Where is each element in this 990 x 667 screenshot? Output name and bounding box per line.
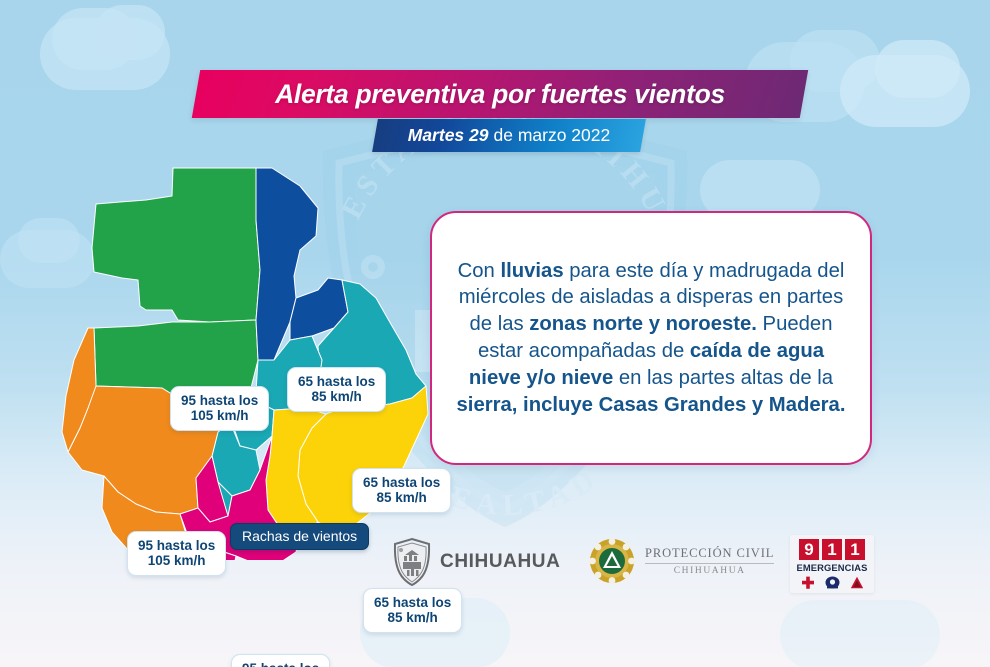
wind-label-line2: 105 km/h	[181, 408, 258, 423]
pc-line1: PROTECCIÓN CIVIL	[645, 546, 774, 561]
forecast-segment-6: en las partes altas de la	[613, 367, 833, 389]
digit-9: 9	[799, 539, 819, 560]
forecast-segment-0: Con	[458, 260, 501, 282]
chihuahua-shield-icon	[392, 537, 432, 587]
digit-1-a: 1	[822, 539, 842, 560]
cloud-icon	[780, 600, 940, 667]
forecast-info-text: Con lluvias para este día y madrugada de…	[432, 258, 870, 419]
date-weekday-day: Martes 29	[408, 125, 489, 146]
wind-label-line2: 85 km/h	[363, 490, 440, 505]
wind-label-sur[interactable]: 95 hasta los 105 km/h	[231, 654, 330, 667]
footer-logo-bar: CHIHUAHUA PROTECCIÓN CIVIL	[0, 534, 990, 602]
forecast-segment-1: lluvias	[500, 260, 563, 282]
red-cross-icon	[801, 576, 815, 590]
chihuahua-government-logo[interactable]: CHIHUAHUA	[392, 537, 560, 587]
wind-label-line1: 65 hasta los	[363, 475, 440, 490]
police-badge-icon	[825, 576, 840, 589]
wind-label-line1: 95 hasta los	[181, 393, 258, 408]
wind-label-line1: 65 hasta los	[298, 374, 375, 389]
date-label: Martes 29 de marzo 2022	[375, 119, 643, 152]
cloud-icon	[95, 5, 165, 60]
map-zone-noroeste[interactable]	[92, 168, 260, 398]
digit-1-b: 1	[845, 539, 865, 560]
emergencias-service-icons	[801, 576, 864, 590]
wind-label-line2: 85 km/h	[374, 610, 451, 625]
forecast-segment-7: sierra, incluye Casas Grandes y Madera.	[457, 394, 846, 416]
proteccion-civil-emblem-icon	[588, 537, 636, 585]
wind-label-norte[interactable]: 65 hasta los 85 km/h	[287, 367, 386, 412]
proteccion-civil-logo[interactable]: PROTECCIÓN CIVIL CHIHUAHUA	[588, 537, 774, 585]
chihuahua-wordmark: CHIHUAHUA	[440, 551, 560, 573]
page-title: Alerta preventiva por fuertes vientos	[196, 70, 804, 118]
proteccion-civil-wordmark: PROTECCIÓN CIVIL CHIHUAHUA	[645, 546, 774, 576]
wind-label-noroeste[interactable]: 95 hasta los 105 km/h	[170, 386, 269, 431]
pc-divider	[645, 563, 774, 564]
pc-line2: CHIHUAHUA	[674, 566, 746, 576]
wind-label-line1: 95 hasta los	[242, 661, 319, 667]
date-month-year: de marzo 2022	[494, 125, 611, 146]
forecast-info-box: Con lluvias para este día y madrugada de…	[430, 211, 872, 465]
cloud-icon	[875, 40, 960, 98]
emergencias-911-logo[interactable]: 9 1 1 EMERGENCIAS	[790, 535, 874, 593]
chihuahua-wind-map[interactable]: 95 hasta los 105 km/h 65 hasta los 85 km…	[60, 160, 430, 560]
emergencias-digits: 9 1 1	[799, 539, 865, 560]
emergencias-label: EMERGENCIAS	[797, 562, 868, 573]
wind-label-line2: 85 km/h	[298, 389, 375, 404]
fire-mountain-icon	[850, 576, 864, 589]
forecast-segment-3: zonas norte y noroeste.	[529, 313, 757, 335]
wind-label-noreste[interactable]: 65 hasta los 85 km/h	[352, 468, 451, 513]
